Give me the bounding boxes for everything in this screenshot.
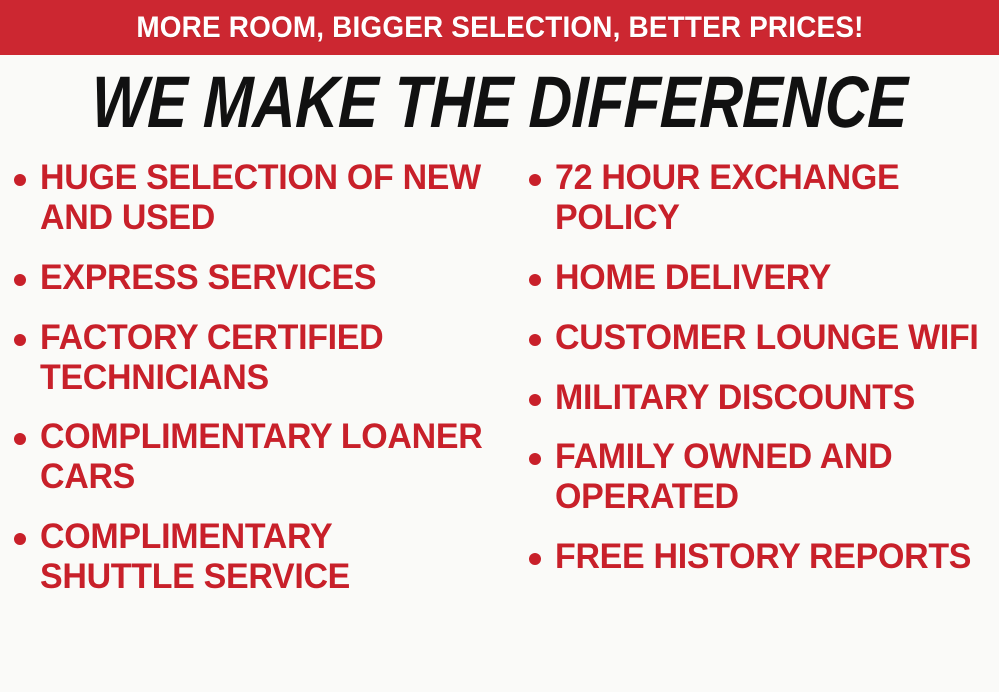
bullet-dot-icon bbox=[529, 274, 541, 286]
list-item-label: FAMILY OWNED AND OPERATED bbox=[555, 437, 984, 517]
bullet-dot-icon bbox=[14, 433, 26, 445]
list-item-label: EXPRESS SERVICES bbox=[40, 258, 492, 298]
list-item: HOME DELIVERY bbox=[529, 258, 997, 298]
list-item-label: CUSTOMER LOUNGE WIFI bbox=[555, 318, 984, 358]
list-item: FREE HISTORY REPORTS bbox=[529, 537, 997, 577]
list-item: COMPLIMENTARY LOANER CARS bbox=[14, 417, 506, 497]
list-item: FAMILY OWNED AND OPERATED bbox=[529, 437, 997, 517]
list-item-label: 72 HOUR EXCHANGE POLICY bbox=[555, 158, 984, 238]
benefits-column-right: 72 HOUR EXCHANGE POLICY HOME DELIVERY CU… bbox=[510, 158, 999, 692]
promo-banner: MORE ROOM, BIGGER SELECTION, BETTER PRIC… bbox=[0, 0, 999, 55]
list-item: MILITARY DISCOUNTS bbox=[529, 378, 997, 418]
list-item-label: HOME DELIVERY bbox=[555, 258, 984, 298]
benefits-column-left: HUGE SELECTION OF NEW AND USED EXPRESS S… bbox=[0, 158, 510, 692]
headline-text: WE MAKE THE DIFFERENCE bbox=[91, 66, 909, 139]
list-item-label: COMPLIMENTARY LOANER CARS bbox=[40, 417, 492, 497]
list-item: CUSTOMER LOUNGE WIFI bbox=[529, 318, 997, 358]
promo-banner-text: MORE ROOM, BIGGER SELECTION, BETTER PRIC… bbox=[136, 13, 863, 43]
list-item: 72 HOUR EXCHANGE POLICY bbox=[529, 158, 997, 238]
list-item-label: COMPLIMENTARY SHUTTLE SERVICE bbox=[40, 517, 492, 597]
bullet-dot-icon bbox=[14, 274, 26, 286]
bullet-dot-icon bbox=[14, 334, 26, 346]
headline: WE MAKE THE DIFFERENCE bbox=[0, 66, 999, 139]
list-item-label: MILITARY DISCOUNTS bbox=[555, 378, 984, 418]
bullet-dot-icon bbox=[529, 553, 541, 565]
bullet-dot-icon bbox=[529, 453, 541, 465]
bullet-dot-icon bbox=[529, 174, 541, 186]
bullet-dot-icon bbox=[529, 394, 541, 406]
list-item: EXPRESS SERVICES bbox=[14, 258, 506, 298]
benefits-columns: HUGE SELECTION OF NEW AND USED EXPRESS S… bbox=[0, 158, 999, 692]
list-item: HUGE SELECTION OF NEW AND USED bbox=[14, 158, 506, 238]
list-item: FACTORY CERTIFIED TECHNICIANS bbox=[14, 318, 506, 398]
list-item-label: FREE HISTORY REPORTS bbox=[555, 537, 984, 577]
list-item: COMPLIMENTARY SHUTTLE SERVICE bbox=[14, 517, 506, 597]
list-item-label: HUGE SELECTION OF NEW AND USED bbox=[40, 158, 492, 238]
list-item-label: FACTORY CERTIFIED TECHNICIANS bbox=[40, 318, 492, 398]
bullet-dot-icon bbox=[529, 334, 541, 346]
bullet-dot-icon bbox=[14, 533, 26, 545]
bullet-dot-icon bbox=[14, 174, 26, 186]
